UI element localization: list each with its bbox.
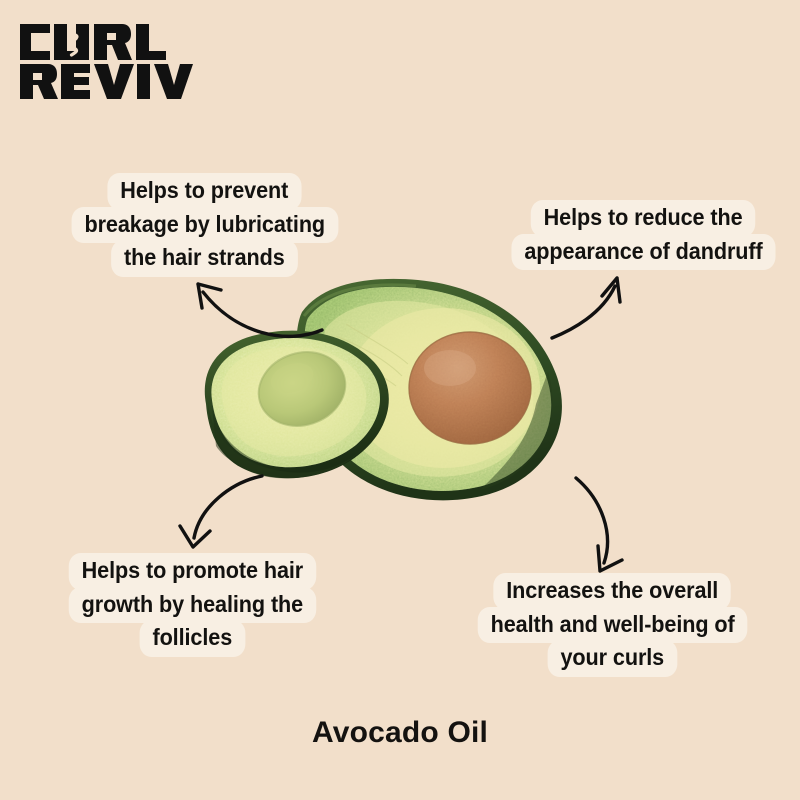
- fact-box-overall-health: Increases the overall health and well-be…: [466, 573, 759, 677]
- avocado-illustration: [196, 276, 606, 516]
- fact-line: breakage by lubricating: [72, 207, 338, 244]
- fact-line: the hair strands: [112, 240, 298, 277]
- fact-line: your curls: [548, 640, 677, 677]
- ingredient-caption: Avocado Oil: [0, 716, 800, 750]
- hair-curl-squiggle-icon: [69, 28, 77, 55]
- fact-line: Helps to reduce the: [531, 200, 756, 237]
- fact-box-prevent-breakage: Helps to prevent breakage by lubricating…: [60, 173, 350, 277]
- fact-box-promote-growth: Helps to promote hair growth by healing …: [58, 553, 327, 657]
- fact-line: Helps to prevent: [108, 173, 302, 210]
- curl-revival-logo-icon: [18, 14, 198, 99]
- fact-line: follicles: [140, 620, 245, 657]
- fact-line: Helps to promote hair: [69, 553, 316, 590]
- fact-box-reduce-dandruff: Helps to reduce the appearance of dandru…: [500, 200, 787, 270]
- fact-line: Increases the overall: [494, 573, 732, 610]
- brand-logo: [18, 14, 198, 99]
- fact-line: appearance of dandruff: [511, 234, 775, 271]
- fact-line: health and well-being of: [478, 607, 748, 644]
- fact-line: growth by healing the: [69, 587, 316, 624]
- infographic-canvas: Helps to prevent breakage by lubricating…: [0, 0, 800, 800]
